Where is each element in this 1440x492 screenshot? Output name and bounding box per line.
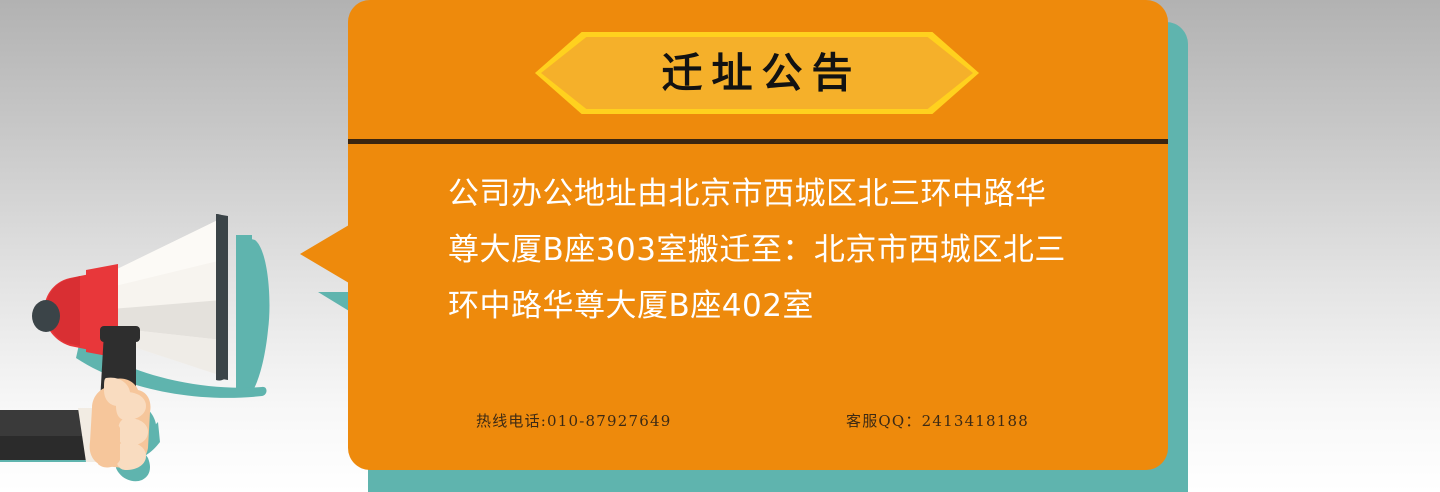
megaphone-icon: [0, 180, 360, 492]
body-line: 环中路华尊大厦B座402室: [448, 278, 1098, 334]
service-qq: 客服QQ：2413418188: [846, 410, 1096, 431]
body-line: 公司办公地址由北京市西城区北三环中路华: [448, 166, 1098, 222]
announcement-body: 公司办公地址由北京市西城区北三环中路华 尊大厦B座303室搬迁至：北京市西城区北…: [448, 166, 1098, 334]
announcement-banner: 迁址公告 公司办公地址由北京市西城区北三环中路华 尊大厦B座303室搬迁至：北京…: [0, 0, 1440, 492]
hotline-phone: 热线电话:010-87927649: [476, 410, 846, 431]
page-title: 迁址公告: [535, 32, 979, 114]
body-line: 尊大厦B座303室搬迁至：北京市西城区北三: [448, 222, 1098, 278]
announcement-card: 迁址公告 公司办公地址由北京市西城区北三环中路华 尊大厦B座303室搬迁至：北京…: [348, 0, 1168, 470]
divider: [348, 139, 1168, 144]
contact-footer: 热线电话:010-87927649 客服QQ：2413418188: [476, 410, 1096, 431]
title-ribbon: 迁址公告: [535, 32, 979, 114]
